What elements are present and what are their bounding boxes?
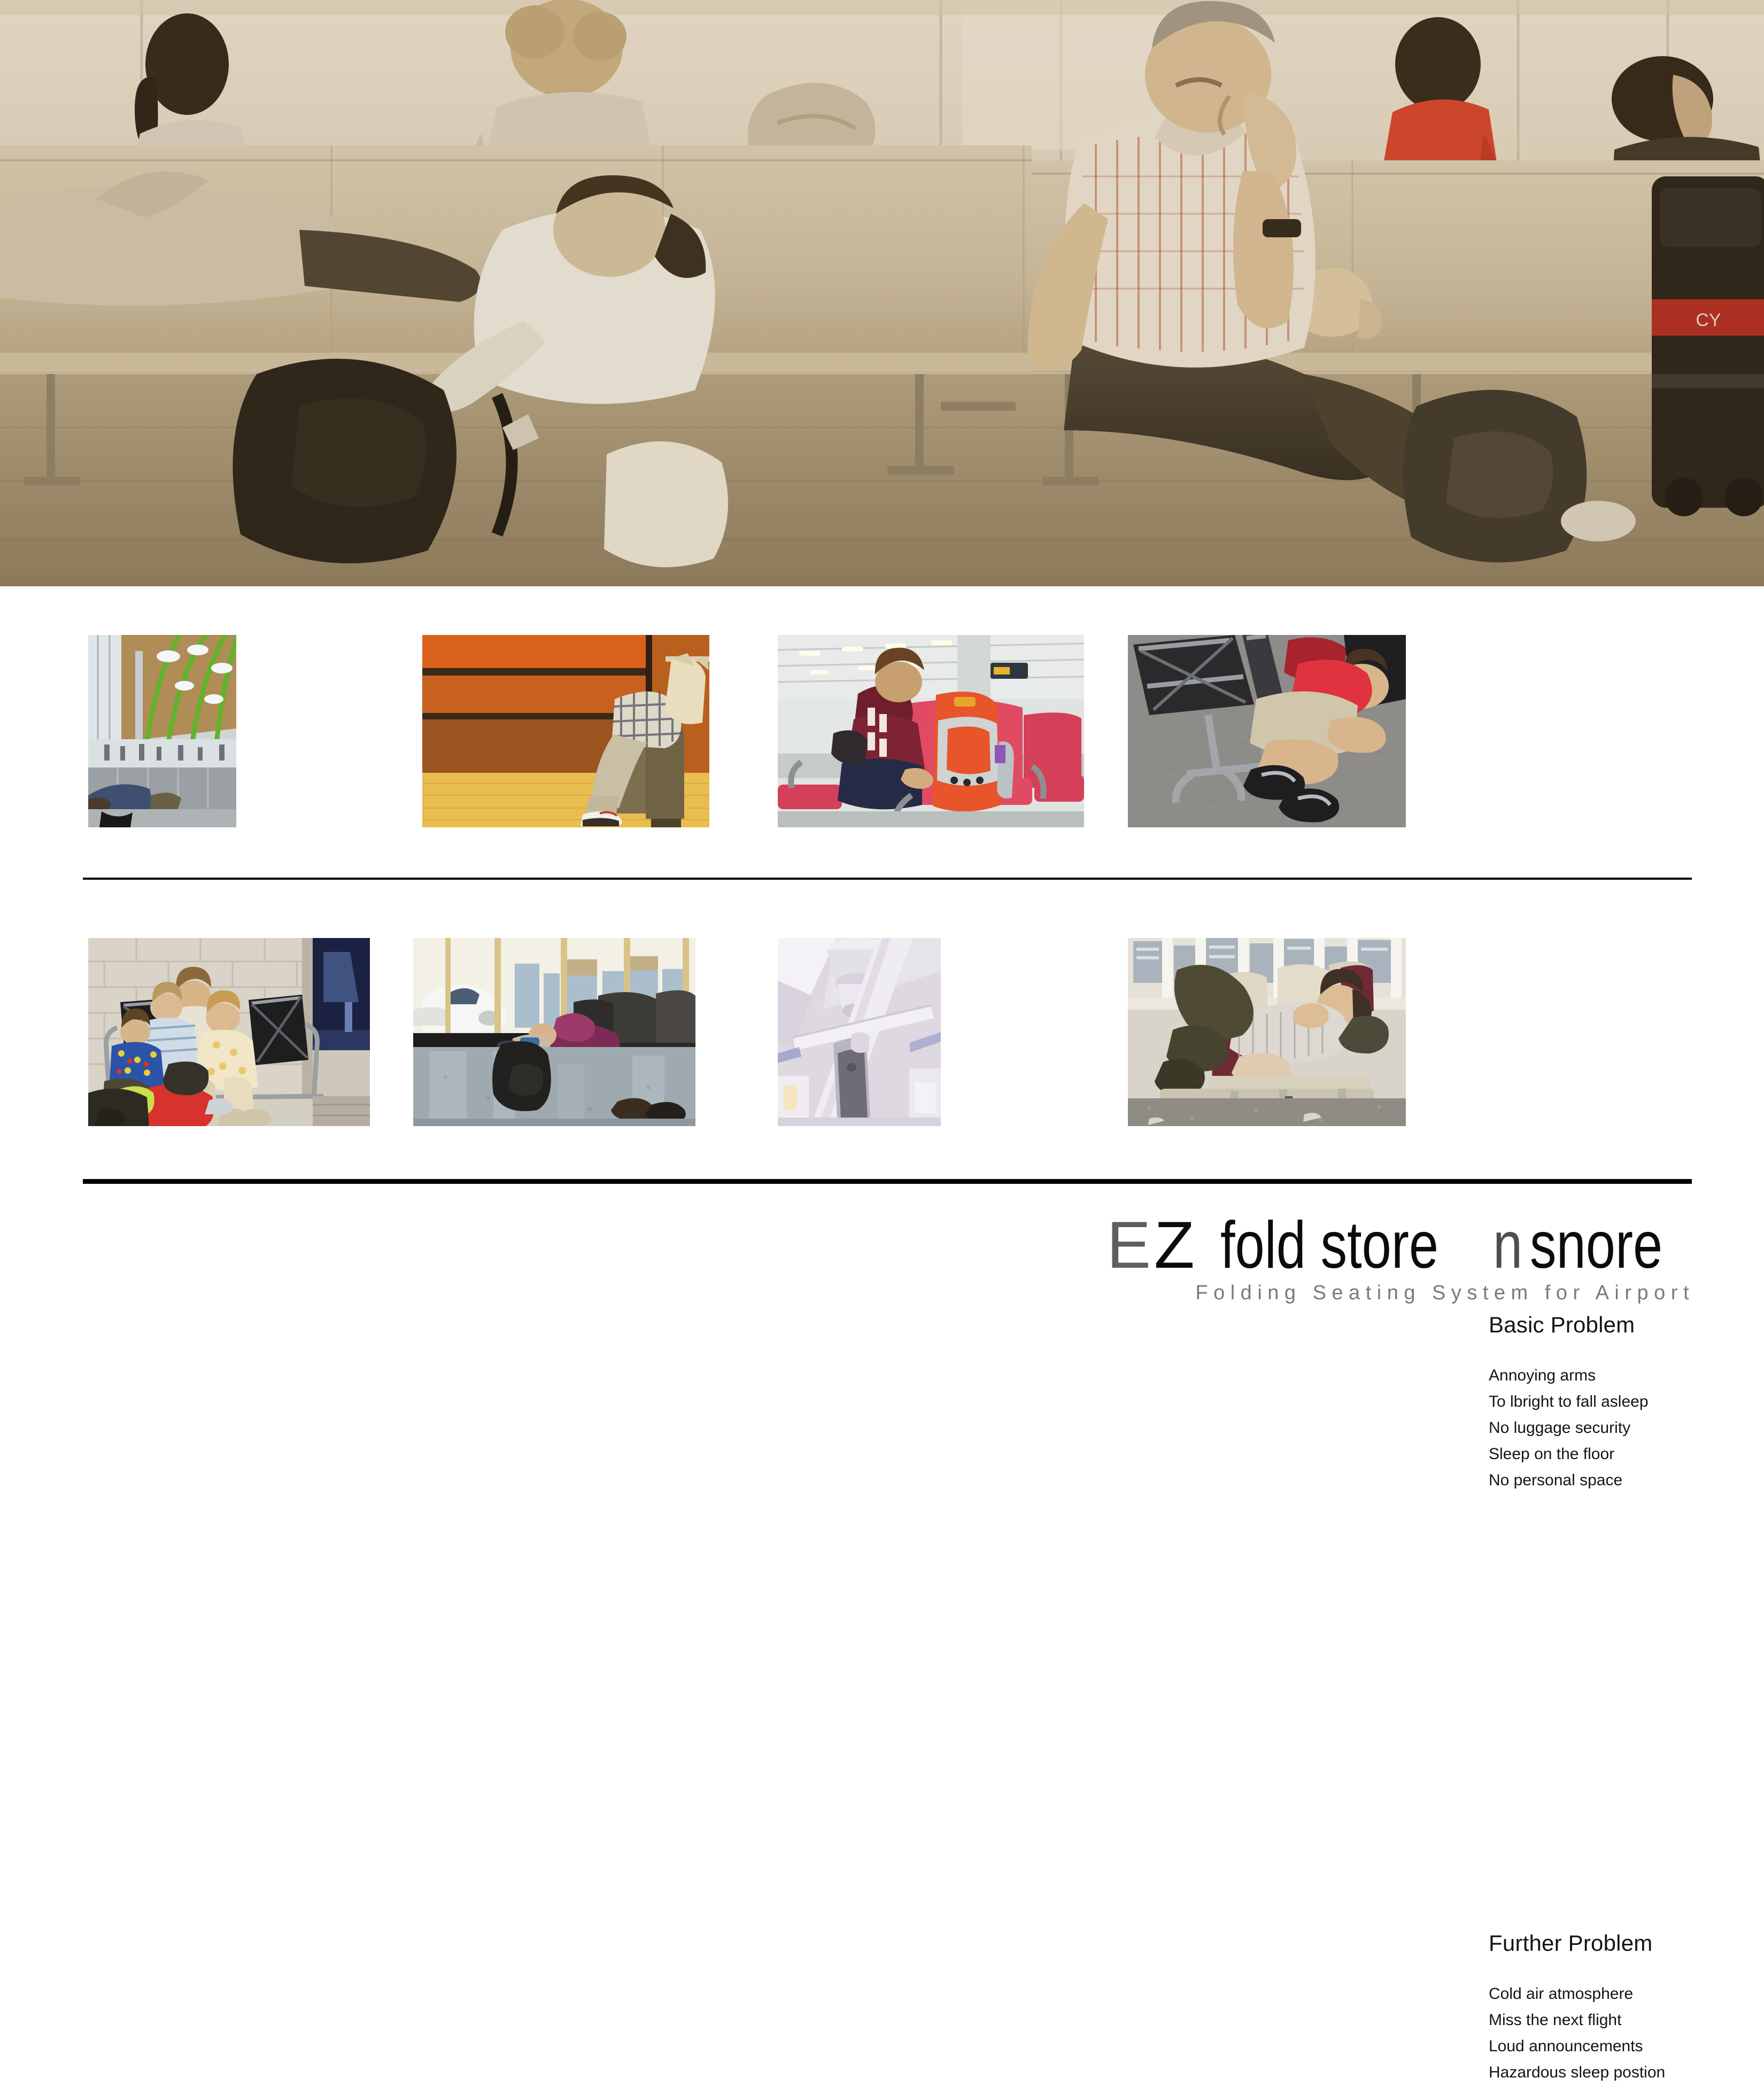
thumb-armchair-newspaper-art (422, 635, 709, 827)
thumb-sprawled-seats[interactable] (1128, 938, 1406, 1126)
thumb-boy-on-floor-art (1128, 635, 1406, 827)
divider-upper (83, 878, 1692, 880)
thumb-madrid-terminal[interactable] (88, 635, 236, 827)
thumb-window-jetway[interactable] (413, 938, 695, 1126)
thumb-ceiling-speaker[interactable] (778, 938, 941, 1126)
thumb-sprawled-seats-art (1128, 938, 1406, 1126)
further-problem-text-block: Further Problem Cold air atmosphere Miss… (1489, 1931, 1665, 2086)
further-problem-title: Further Problem (1489, 1931, 1665, 1956)
logo-word-fold-store: fold store (1220, 1212, 1438, 1278)
thumb-boy-on-floor[interactable] (1128, 635, 1406, 827)
logo-letter-e: E (1107, 1208, 1154, 1282)
basic-problem-item: To lbright to fall asleep (1489, 1389, 1649, 1415)
logo-letter-n: n (1493, 1212, 1522, 1278)
basic-problem-item: No personal space (1489, 1468, 1649, 1494)
further-problem-item: Miss the next flight (1489, 2007, 1665, 2034)
further-problem-list: Cold air atmosphere Miss the next flight… (1489, 1981, 1665, 2086)
logo-tagline: Folding Seating System for Airport (0, 1282, 1696, 1305)
thumb-pink-seats-backpack-art (778, 635, 1084, 827)
logo-letter-z: Z (1154, 1208, 1196, 1282)
thumb-window-jetway-art (413, 938, 695, 1126)
basic-problem-list: Annoying arms To lbright to fall asleep … (1489, 1363, 1649, 1493)
thumb-armchair-newspaper[interactable] (422, 635, 709, 827)
divider-lower (83, 1179, 1692, 1184)
basic-problem-item: Sleep on the floor (1489, 1441, 1649, 1468)
thumb-ceiling-speaker-art (778, 938, 941, 1126)
thumb-family-pile-art (88, 938, 370, 1126)
thumb-family-pile[interactable] (88, 938, 370, 1126)
further-problem-item: Hazardous sleep postion (1489, 2060, 1665, 2086)
thumb-madrid-terminal-art (88, 635, 236, 827)
basic-problem-item: No luggage security (1489, 1415, 1649, 1441)
hero-image: CY (0, 0, 1764, 586)
logo-word-snore: snore (1530, 1212, 1662, 1278)
basic-problem-item: Annoying arms (1489, 1363, 1649, 1389)
hero-illustration: CY (0, 0, 1764, 586)
brand-logo: EZfold storensnore Folding Seating Syste… (0, 1212, 1696, 1305)
thumbnail-row-further-problem: Further Problem Cold air atmosphere Miss… (0, 938, 1764, 1126)
basic-problem-text-block: Basic Problem Annoying arms To lbright t… (1489, 1313, 1649, 1494)
thumb-pink-seats-backpack[interactable] (778, 635, 1084, 827)
further-problem-item: Loud announcements (1489, 2034, 1665, 2060)
basic-problem-title: Basic Problem (1489, 1313, 1649, 1337)
thumbnail-row-basic-problem: Basic Problem Annoying arms To lbright t… (0, 635, 1764, 827)
further-problem-item: Cold air atmosphere (1489, 1981, 1665, 2007)
logo-wordmark: EZfold storensnore (0, 1212, 1696, 1278)
